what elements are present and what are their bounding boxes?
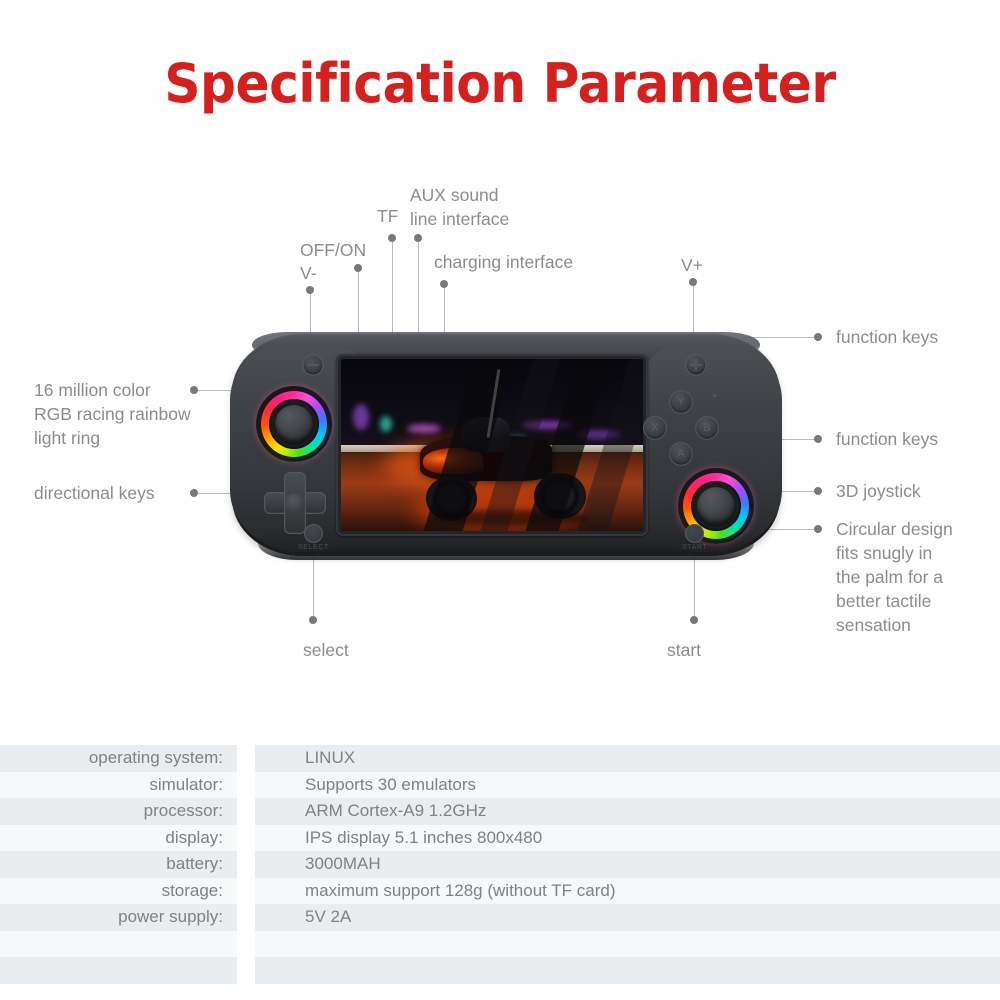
spec-row: operating system:LINUX [0, 745, 1000, 772]
spec-row-value: maximum support 128g (without TF card) [255, 878, 1000, 905]
select-button[interactable] [304, 524, 323, 543]
callout-dot-joystick [814, 487, 822, 495]
city-light-2 [380, 416, 392, 432]
leader-line-aux [418, 240, 419, 340]
callout-label-charging: charging interface [434, 250, 573, 274]
spec-row-value: Supports 30 emulators [255, 772, 1000, 799]
callout-label-v-minus: V- [300, 261, 317, 285]
face-button-y[interactable]: Y [669, 390, 693, 414]
callout-label-v-plus: V+ [681, 253, 703, 277]
spec-row-label [0, 957, 237, 984]
spec-row-value [255, 957, 1000, 984]
callout-label-joystick: 3D joystick [836, 479, 921, 503]
face-button-x[interactable]: X [643, 416, 667, 440]
callout-label-directional-keys: directional keys [34, 481, 155, 505]
city-light-1 [353, 404, 369, 430]
callout-dot-charging [440, 280, 448, 288]
specification-table: operating system:LINUXsimulator:Supports… [0, 745, 1000, 984]
game-scene [341, 359, 643, 531]
spec-row-value: ARM Cortex-A9 1.2GHz [255, 798, 1000, 825]
callout-dot-aux [414, 234, 422, 242]
face-button-b[interactable]: B [695, 416, 719, 440]
spec-row: storage:maximum support 128g (without TF… [0, 878, 1000, 905]
callout-dot-v-plus [689, 278, 697, 286]
handheld-console: Y X B A SELECT START [232, 328, 780, 560]
callout-label-off-on: OFF/ON [300, 238, 366, 262]
callout-label-function-keys-mid: function keys [836, 427, 938, 451]
spec-row: battery:3000MAH [0, 851, 1000, 878]
callout-dot-select [309, 616, 317, 624]
left-joystick[interactable] [256, 386, 332, 462]
start-button[interactable] [685, 524, 704, 543]
status-led-icon [713, 394, 716, 397]
spec-row [0, 957, 1000, 984]
callout-label-aux: AUX sound line interface [410, 183, 509, 231]
spec-row: simulator:Supports 30 emulators [0, 772, 1000, 799]
volume-down-button[interactable] [302, 354, 324, 376]
callout-label-function-keys-top: function keys [836, 325, 938, 349]
start-button-label: START [682, 544, 707, 551]
screen[interactable] [341, 359, 643, 531]
callout-dot-circular-design [814, 525, 822, 533]
joystick-cap-left[interactable] [275, 405, 313, 443]
spec-row-label: display: [0, 825, 237, 852]
leader-line-select [313, 556, 314, 620]
volume-up-button[interactable] [685, 354, 707, 376]
joystick-cap-right[interactable] [697, 487, 735, 525]
callout-label-tf: TF [377, 204, 398, 228]
spec-row-label: power supply: [0, 904, 237, 931]
spec-row-label [0, 931, 237, 958]
callout-dot-off-on [354, 264, 362, 272]
spec-row: processor:ARM Cortex-A9 1.2GHz [0, 798, 1000, 825]
select-button-label: SELECT [298, 544, 329, 551]
callout-label-rgb-ring: 16 million color RGB racing rainbow ligh… [34, 378, 204, 450]
spec-row: power supply:5V 2A [0, 904, 1000, 931]
leader-line-tf [392, 240, 393, 340]
callout-dot-function-keys-mid [814, 435, 822, 443]
spec-row-label: simulator: [0, 772, 237, 799]
spec-row-label: processor: [0, 798, 237, 825]
spec-row: display:IPS display 5.1 inches 800x480 [0, 825, 1000, 852]
callout-dot-tf [388, 234, 396, 242]
spec-row [0, 931, 1000, 958]
spec-row-label: storage: [0, 878, 237, 905]
callout-label-circular-design: Circular design fits snugly in the palm … [836, 517, 988, 637]
callout-dot-directional-keys [190, 489, 198, 497]
leader-line-start [694, 556, 695, 620]
plus-icon [685, 354, 707, 376]
callout-dot-function-keys-top [814, 333, 822, 341]
spec-row-value: LINUX [255, 745, 1000, 772]
screen-bezel [336, 354, 648, 536]
callout-label-select: select [303, 638, 349, 662]
spec-row-value [255, 931, 1000, 958]
page-title: Specification Parameter [35, 52, 965, 115]
callout-dot-start [690, 616, 698, 624]
spec-row-value: 3000MAH [255, 851, 1000, 878]
face-button-a[interactable]: A [669, 442, 693, 466]
callout-label-start: start [667, 638, 701, 662]
spec-row-label: operating system: [0, 745, 237, 772]
spec-row-value: 5V 2A [255, 904, 1000, 931]
dpad-hub [285, 493, 305, 513]
callout-dot-v-minus [306, 286, 314, 294]
spec-row-value: IPS display 5.1 inches 800x480 [255, 825, 1000, 852]
spec-row-label: battery: [0, 851, 237, 878]
minus-icon [307, 364, 319, 366]
